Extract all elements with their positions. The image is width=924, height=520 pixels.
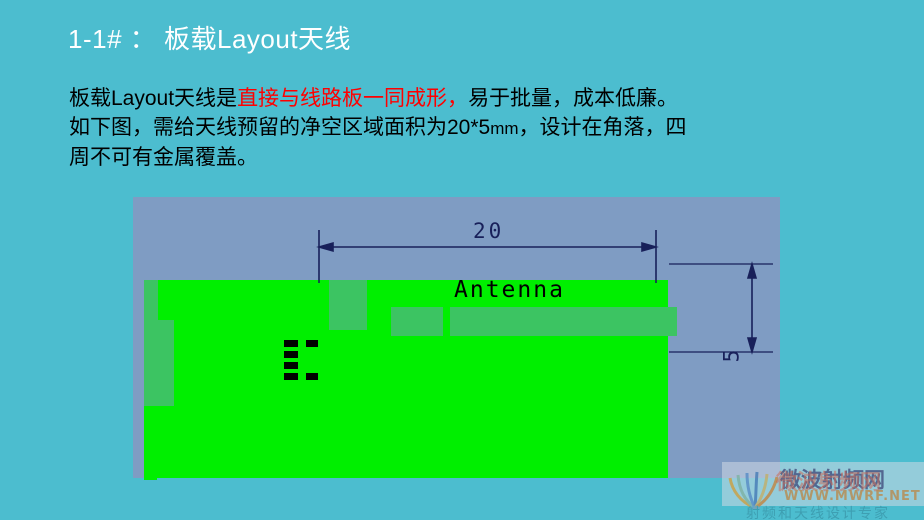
page-title: 1-1# ： 板载Layout天线 [68,22,351,56]
antenna-trace-feed-link [144,280,158,320]
pcb-pad [306,373,318,380]
body-line1-prefix: 板载Layout天线是 [69,87,237,110]
watermark-url: WWW.MWRF.NET [784,489,921,504]
body-line2-suffix: ，设计在角落，四 [519,116,687,139]
dimension-width-label: 20 [473,219,504,243]
antenna-trace-arm-right [450,307,677,336]
pcb-pad [306,340,318,347]
watermark-subtitle: 射频和天线设计专家 [746,503,890,520]
dimension-height-label: 5 [719,350,743,363]
body-line1-suffix: 易于批量，成本低廉。 [468,87,678,110]
body-line1-highlight: 直接与线路板一同成形， [237,87,468,110]
body-line3: 周不可有金属覆盖。 [69,146,258,169]
pcb-pad [284,362,298,369]
pcb-pad [284,351,298,358]
antenna-layout-diagram: Antenna 20 5 [133,197,780,478]
body-line2-unit: mm [490,119,518,138]
body-line2-prefix: 如下图，需给天线预留的净空区域面积为20*5 [69,116,490,139]
antenna-trace-vertical-stub [329,280,367,330]
pcb-pad [284,373,298,380]
slide-canvas: 1-1# ： 板载Layout天线 板载Layout天线是直接与线路板一同成形，… [0,0,924,520]
silkscreen-antenna-label: Antenna [454,275,565,305]
body-paragraph: 板载Layout天线是直接与线路板一同成形，易于批量，成本低廉。 如下图，需给天… [69,84,869,172]
antenna-trace-arm-left [391,307,443,336]
pcb-pad [284,340,298,347]
antenna-trace-feed-slot [144,406,157,480]
site-watermark: 微波射频网 微波射频网 WWW.MWRF.NET 射频和天线设计专家 [722,462,924,520]
antenna-trace-feed-line [144,320,174,406]
pcb-board: Antenna [144,280,668,478]
